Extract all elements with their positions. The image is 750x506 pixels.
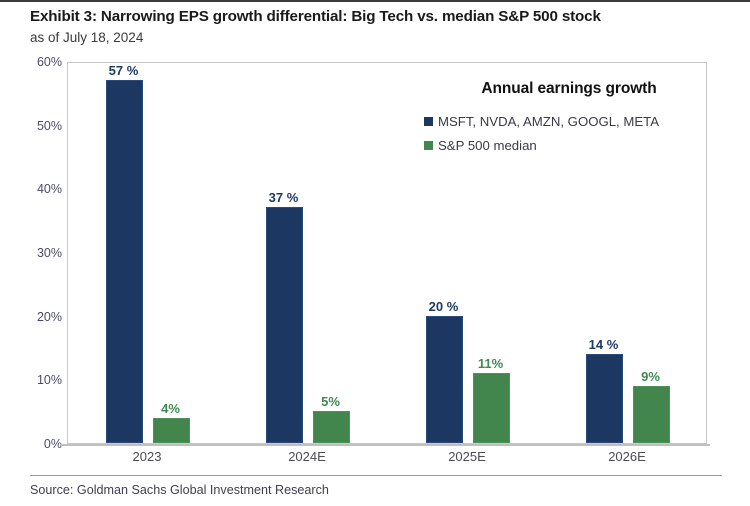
source-note: Source: Goldman Sachs Global Investment … — [30, 483, 329, 497]
bar-value-label: 9% — [620, 369, 681, 384]
bar-2026e-sp500median — [633, 386, 670, 443]
navy-square-icon — [424, 117, 433, 126]
green-square-icon — [424, 141, 433, 150]
y-axis-tick-label: 40% — [4, 182, 62, 196]
bar-value-label: 5% — [300, 394, 361, 409]
bar-2023-sp500median — [153, 418, 190, 443]
chart-legend: Annual earnings growth MSFT, NVDA, AMZN,… — [424, 80, 714, 162]
y-axis-tick-label: 10% — [4, 373, 62, 387]
y-axis-tick-label: 30% — [4, 246, 62, 260]
page-title: Exhibit 3: Narrowing EPS growth differen… — [30, 8, 745, 25]
x-axis-baseline — [60, 444, 710, 446]
footer-divider — [30, 475, 722, 476]
y-axis-tick-label: 0% — [4, 437, 62, 451]
bar-value-label: 20 % — [413, 299, 474, 314]
x-axis-tick-label: 2024E — [227, 449, 387, 464]
bar-2026e-bigtech — [586, 354, 623, 443]
top-rule-divider — [0, 0, 750, 2]
bar-value-label: 14 % — [573, 337, 634, 352]
y-axis: 0%10%20%30%40%50%60% — [0, 0, 62, 506]
x-axis-tick-label: 2023 — [67, 449, 227, 464]
bar-2024e-sp500median — [313, 411, 350, 443]
bar-value-label: 37 % — [253, 190, 314, 205]
bar-value-label: 57 % — [93, 63, 154, 78]
bar-2025e-sp500median — [473, 373, 510, 443]
bar-2025e-bigtech — [426, 316, 463, 443]
legend-item-label: MSFT, NVDA, AMZN, GOOGL, META — [438, 114, 659, 129]
y-axis-tick-label: 20% — [4, 310, 62, 324]
x-axis-tick-label: 2025E — [387, 449, 547, 464]
legend-item-bigtech: MSFT, NVDA, AMZN, GOOGL, META — [424, 114, 714, 129]
legend-item-label: S&P 500 median — [438, 138, 537, 153]
bar-value-label: 4% — [140, 401, 201, 416]
y-axis-tick-label: 50% — [4, 119, 62, 133]
bar-2024e-bigtech — [266, 207, 303, 443]
bar-value-label: 11% — [460, 356, 521, 371]
legend-title: Annual earnings growth — [424, 80, 714, 98]
legend-item-sp500median: S&P 500 median — [424, 138, 714, 153]
chart-page: Exhibit 3: Narrowing EPS growth differen… — [0, 0, 750, 506]
y-axis-tick-label: 60% — [4, 55, 62, 69]
bar-2023-bigtech — [106, 80, 143, 443]
x-axis-tick-label: 2026E — [547, 449, 707, 464]
